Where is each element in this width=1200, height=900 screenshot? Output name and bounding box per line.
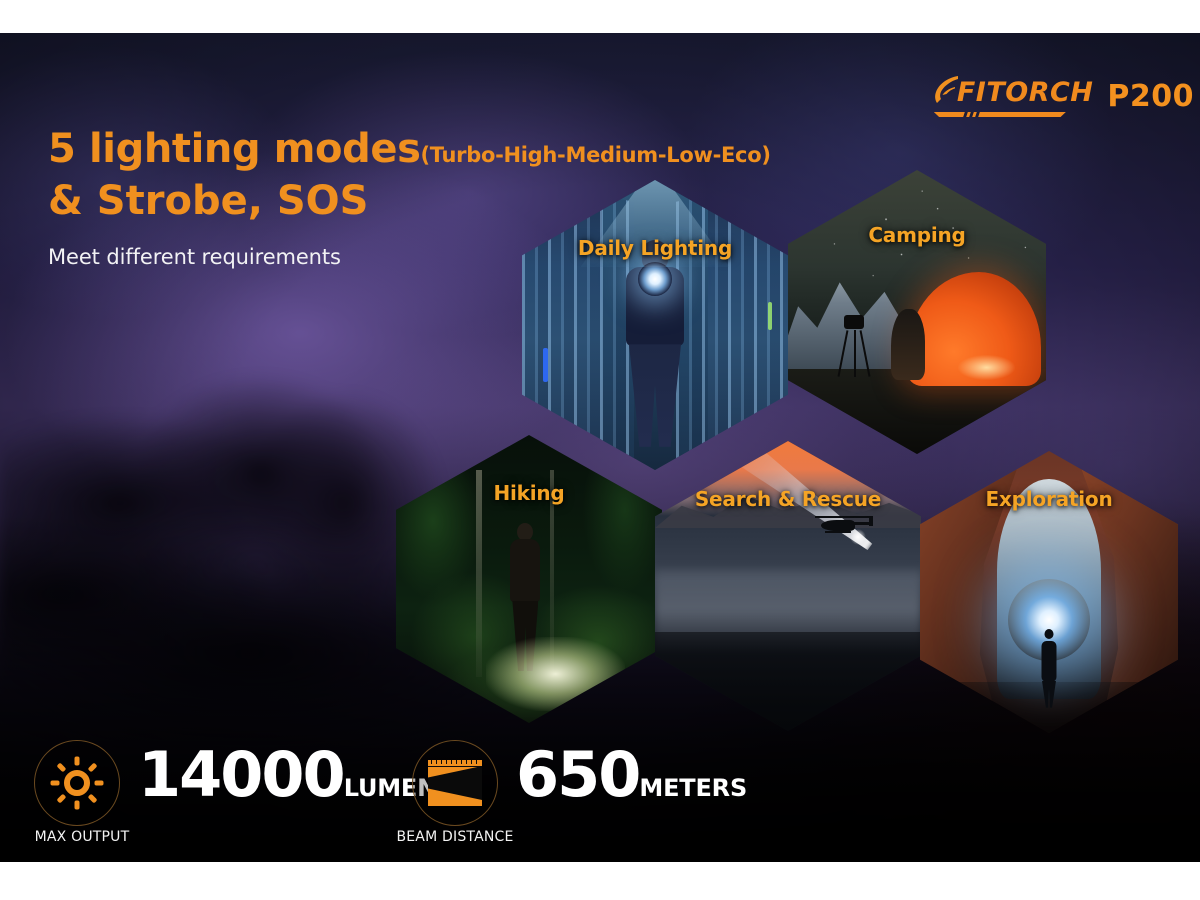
spec-max-output: MAX OUTPUT 14000 LUMENS xyxy=(34,740,454,826)
spec-label-max-output: MAX OUTPUT xyxy=(27,829,137,845)
hex-image-hiking xyxy=(396,435,662,723)
spec-value-beam-distance: 650 xyxy=(516,746,639,805)
sun-icon: MAX OUTPUT xyxy=(34,740,120,826)
hex-hiking[interactable]: Hiking xyxy=(396,435,662,723)
spec-unit-beam-distance: METERS xyxy=(639,774,747,802)
spec-label-beam-distance: BEAM DISTANCE xyxy=(380,829,530,845)
hex-label-search-rescue: Search & Rescue xyxy=(655,487,921,511)
spec-value-max-output: 14000 xyxy=(138,746,344,805)
hex-search-rescue[interactable]: Search & Rescue xyxy=(655,441,921,731)
specs-strip: MAX OUTPUT 14000 LUMENS xyxy=(0,732,1200,862)
hex-label-exploration: Exploration xyxy=(920,487,1178,511)
hex-image-daily-lighting xyxy=(522,180,788,470)
hex-camping[interactable]: Camping xyxy=(788,170,1046,454)
hex-label-daily-lighting: Daily Lighting xyxy=(522,236,788,260)
beam-cone-icon: BEAM DISTANCE xyxy=(412,740,498,826)
hex-image-camping xyxy=(788,170,1046,454)
product-banner-page: FITORCH P200 5 lighting modes(Turbo-High… xyxy=(0,0,1200,900)
hex-exploration[interactable]: Exploration xyxy=(920,451,1178,733)
hex-daily-lighting[interactable]: Daily Lighting xyxy=(522,180,788,470)
hex-image-search-rescue xyxy=(655,441,921,731)
spec-beam-distance: BEAM DISTANCE 650 METERS xyxy=(412,740,747,826)
hex-label-hiking: Hiking xyxy=(396,481,662,505)
banner-artwork: FITORCH P200 5 lighting modes(Turbo-High… xyxy=(0,33,1200,862)
hex-label-camping: Camping xyxy=(788,223,1046,247)
